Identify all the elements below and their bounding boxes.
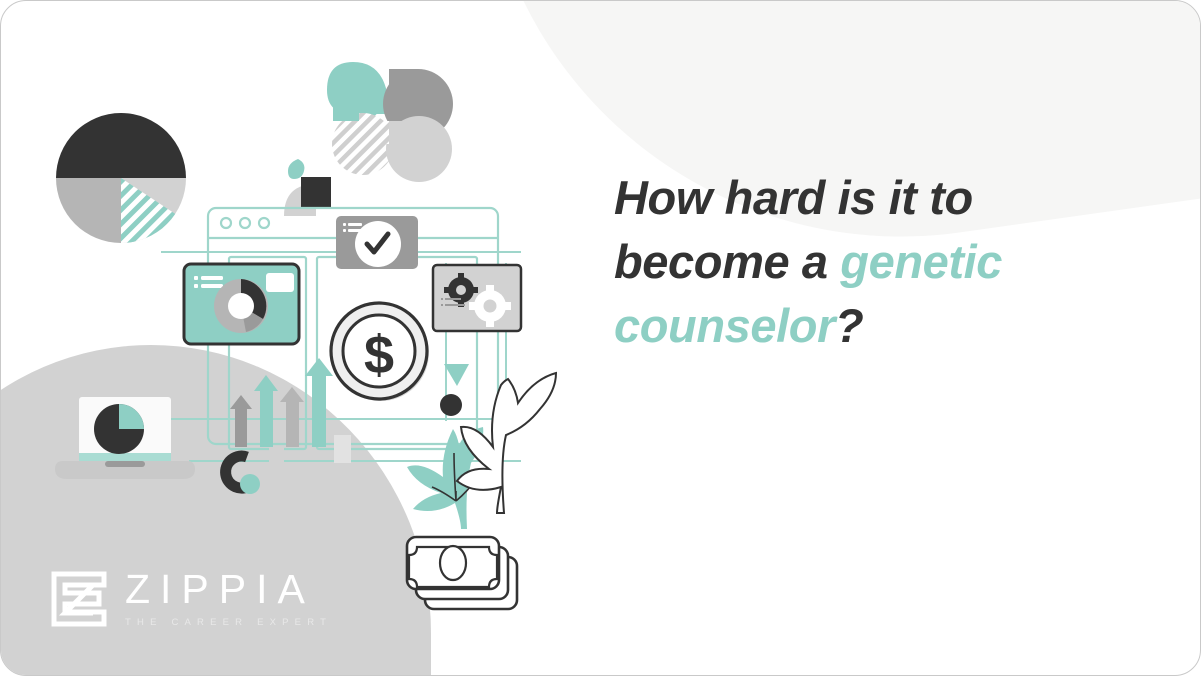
- headline-line-2: become a genetic: [614, 230, 1114, 294]
- arrow-3: [280, 387, 304, 447]
- zippia-logo[interactable]: ZIPPIA THE CAREER EXPERT: [51, 569, 332, 628]
- growth-arrows: [230, 358, 333, 447]
- square-marker-gray: [269, 447, 284, 477]
- promo-card: $: [0, 0, 1201, 676]
- headline-line-1: How hard is it to: [614, 166, 1114, 230]
- checkmark-card: [336, 216, 418, 269]
- laptop-pie: [55, 397, 195, 479]
- square-marker-gray-2: [334, 435, 351, 463]
- zippia-tagline: THE CAREER EXPERT: [125, 617, 332, 628]
- speech-bubble: [266, 273, 294, 292]
- svg-text:$: $: [364, 325, 394, 385]
- laptop-pie-chart: [94, 404, 144, 454]
- dark-square-marker: [301, 177, 331, 207]
- arrow-1: [230, 395, 252, 447]
- dot-marker: [440, 394, 462, 416]
- headline-accent-2: counselor: [614, 299, 835, 352]
- zippia-logo-mark-icon: [51, 571, 107, 627]
- zippia-logo-text: ZIPPIA THE CAREER EXPERT: [125, 569, 332, 628]
- pie-chart-large: [56, 113, 186, 243]
- banknotes: [407, 537, 517, 609]
- headline: How hard is it to become a genetic couns…: [614, 166, 1114, 358]
- teal-drop-marker: [288, 159, 304, 179]
- headline-question-mark: ?: [835, 299, 863, 352]
- triangle-marker: [444, 364, 469, 386]
- headline-accent-1: genetic: [840, 235, 1002, 288]
- plant-leaves: [407, 373, 556, 529]
- headline-text-1: How hard is it to: [614, 171, 973, 224]
- headline-line-3: counselor?: [614, 294, 1114, 358]
- leaf-white: [457, 373, 556, 513]
- arrow-2: [254, 375, 278, 447]
- donut-chart: [214, 279, 268, 333]
- teal-donut-card: [184, 264, 299, 344]
- arrow-4: [305, 358, 333, 447]
- dollar-coin: $: [331, 303, 429, 401]
- headline-text-2: become a: [614, 235, 840, 288]
- zippia-wordmark: ZIPPIA: [125, 569, 332, 610]
- gears-card: [433, 265, 521, 331]
